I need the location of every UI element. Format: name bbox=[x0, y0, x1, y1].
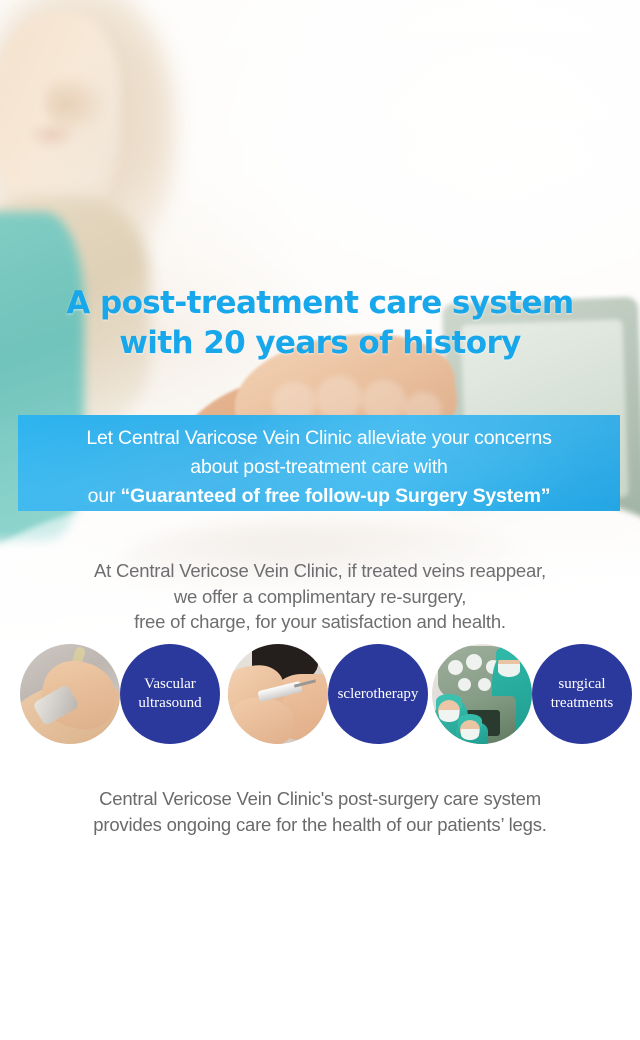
closing-line-1: Central Vericose Vein Clinic's post-surg… bbox=[0, 786, 640, 812]
badge-label: surgical treatments bbox=[551, 675, 613, 713]
promo-page: A post-treatment care system with 20 yea… bbox=[0, 0, 640, 1040]
operating-room-art bbox=[432, 644, 532, 744]
page-headline: A post-treatment care system with 20 yea… bbox=[0, 283, 640, 363]
badge-label-circle: surgical treatments bbox=[532, 644, 632, 744]
surgical-mask bbox=[498, 664, 520, 677]
highlight-banner: Let Central Varicose Vein Clinic allevia… bbox=[18, 415, 620, 511]
intro-line-1: At Central Vericose Vein Clinic, if trea… bbox=[0, 558, 640, 584]
badge-label: Vascular ultrasound bbox=[138, 675, 201, 713]
ultrasound-probe-photo bbox=[20, 644, 120, 744]
surgical-cap bbox=[496, 646, 522, 660]
badge-label-circle: sclerotherapy bbox=[328, 644, 428, 744]
banner-line-1: Let Central Varicose Vein Clinic allevia… bbox=[18, 424, 620, 453]
lamp-bulb bbox=[478, 678, 491, 691]
intro-line-3: free of charge, for your satisfaction an… bbox=[0, 609, 640, 635]
syringe-photo-art bbox=[228, 644, 328, 744]
lamp-bulb bbox=[466, 654, 482, 670]
headline-line-2: with 20 years of history bbox=[0, 323, 640, 363]
closing-paragraph: Central Vericose Vein Clinic's post-surg… bbox=[0, 786, 640, 837]
injection-syringe-photo bbox=[228, 644, 328, 744]
surgical-mask bbox=[439, 710, 459, 722]
operating-room-photo bbox=[432, 644, 532, 744]
closing-line-2: provides ongoing care for the health of … bbox=[0, 812, 640, 838]
woman-lips bbox=[28, 122, 76, 148]
surgical-mask bbox=[461, 729, 479, 740]
badge-sclerotherapy[interactable]: sclerotherapy bbox=[228, 644, 328, 744]
badge-label-line-1: surgical bbox=[558, 676, 605, 692]
badge-surgical-treatments[interactable]: surgical treatments bbox=[432, 644, 532, 744]
lamp-bulb bbox=[458, 678, 471, 691]
banner-line-3-bold: “Guaranteed of free follow-up Surgery Sy… bbox=[120, 485, 550, 507]
lamp-bulb bbox=[448, 660, 463, 675]
badge-label: sclerotherapy bbox=[338, 685, 419, 704]
badge-label-line-2: treatments bbox=[551, 695, 613, 711]
intro-line-2: we offer a complimentary re-surgery, bbox=[0, 584, 640, 610]
treatment-badges: Vascular ultrasound bbox=[0, 644, 640, 748]
banner-line-3-prefix: our bbox=[88, 485, 121, 507]
banner-text: Let Central Varicose Vein Clinic allevia… bbox=[18, 415, 620, 511]
banner-line-2: about post-treatment care with bbox=[18, 453, 620, 482]
ultrasound-photo-art bbox=[20, 644, 120, 744]
badge-label-line-1: Vascular bbox=[144, 676, 196, 692]
badge-label-circle: Vascular ultrasound bbox=[120, 644, 220, 744]
badge-label-line-2: ultrasound bbox=[138, 695, 201, 711]
knuckle-highlight bbox=[316, 376, 362, 420]
badge-label-line-1: sclerotherapy bbox=[338, 686, 419, 702]
badge-vascular-ultrasound[interactable]: Vascular ultrasound bbox=[20, 644, 120, 744]
banner-line-3: our “Guaranteed of free follow-up Surger… bbox=[18, 482, 620, 511]
headline-line-1: A post-treatment care system bbox=[0, 283, 640, 323]
intro-paragraph: At Central Vericose Vein Clinic, if trea… bbox=[0, 558, 640, 635]
